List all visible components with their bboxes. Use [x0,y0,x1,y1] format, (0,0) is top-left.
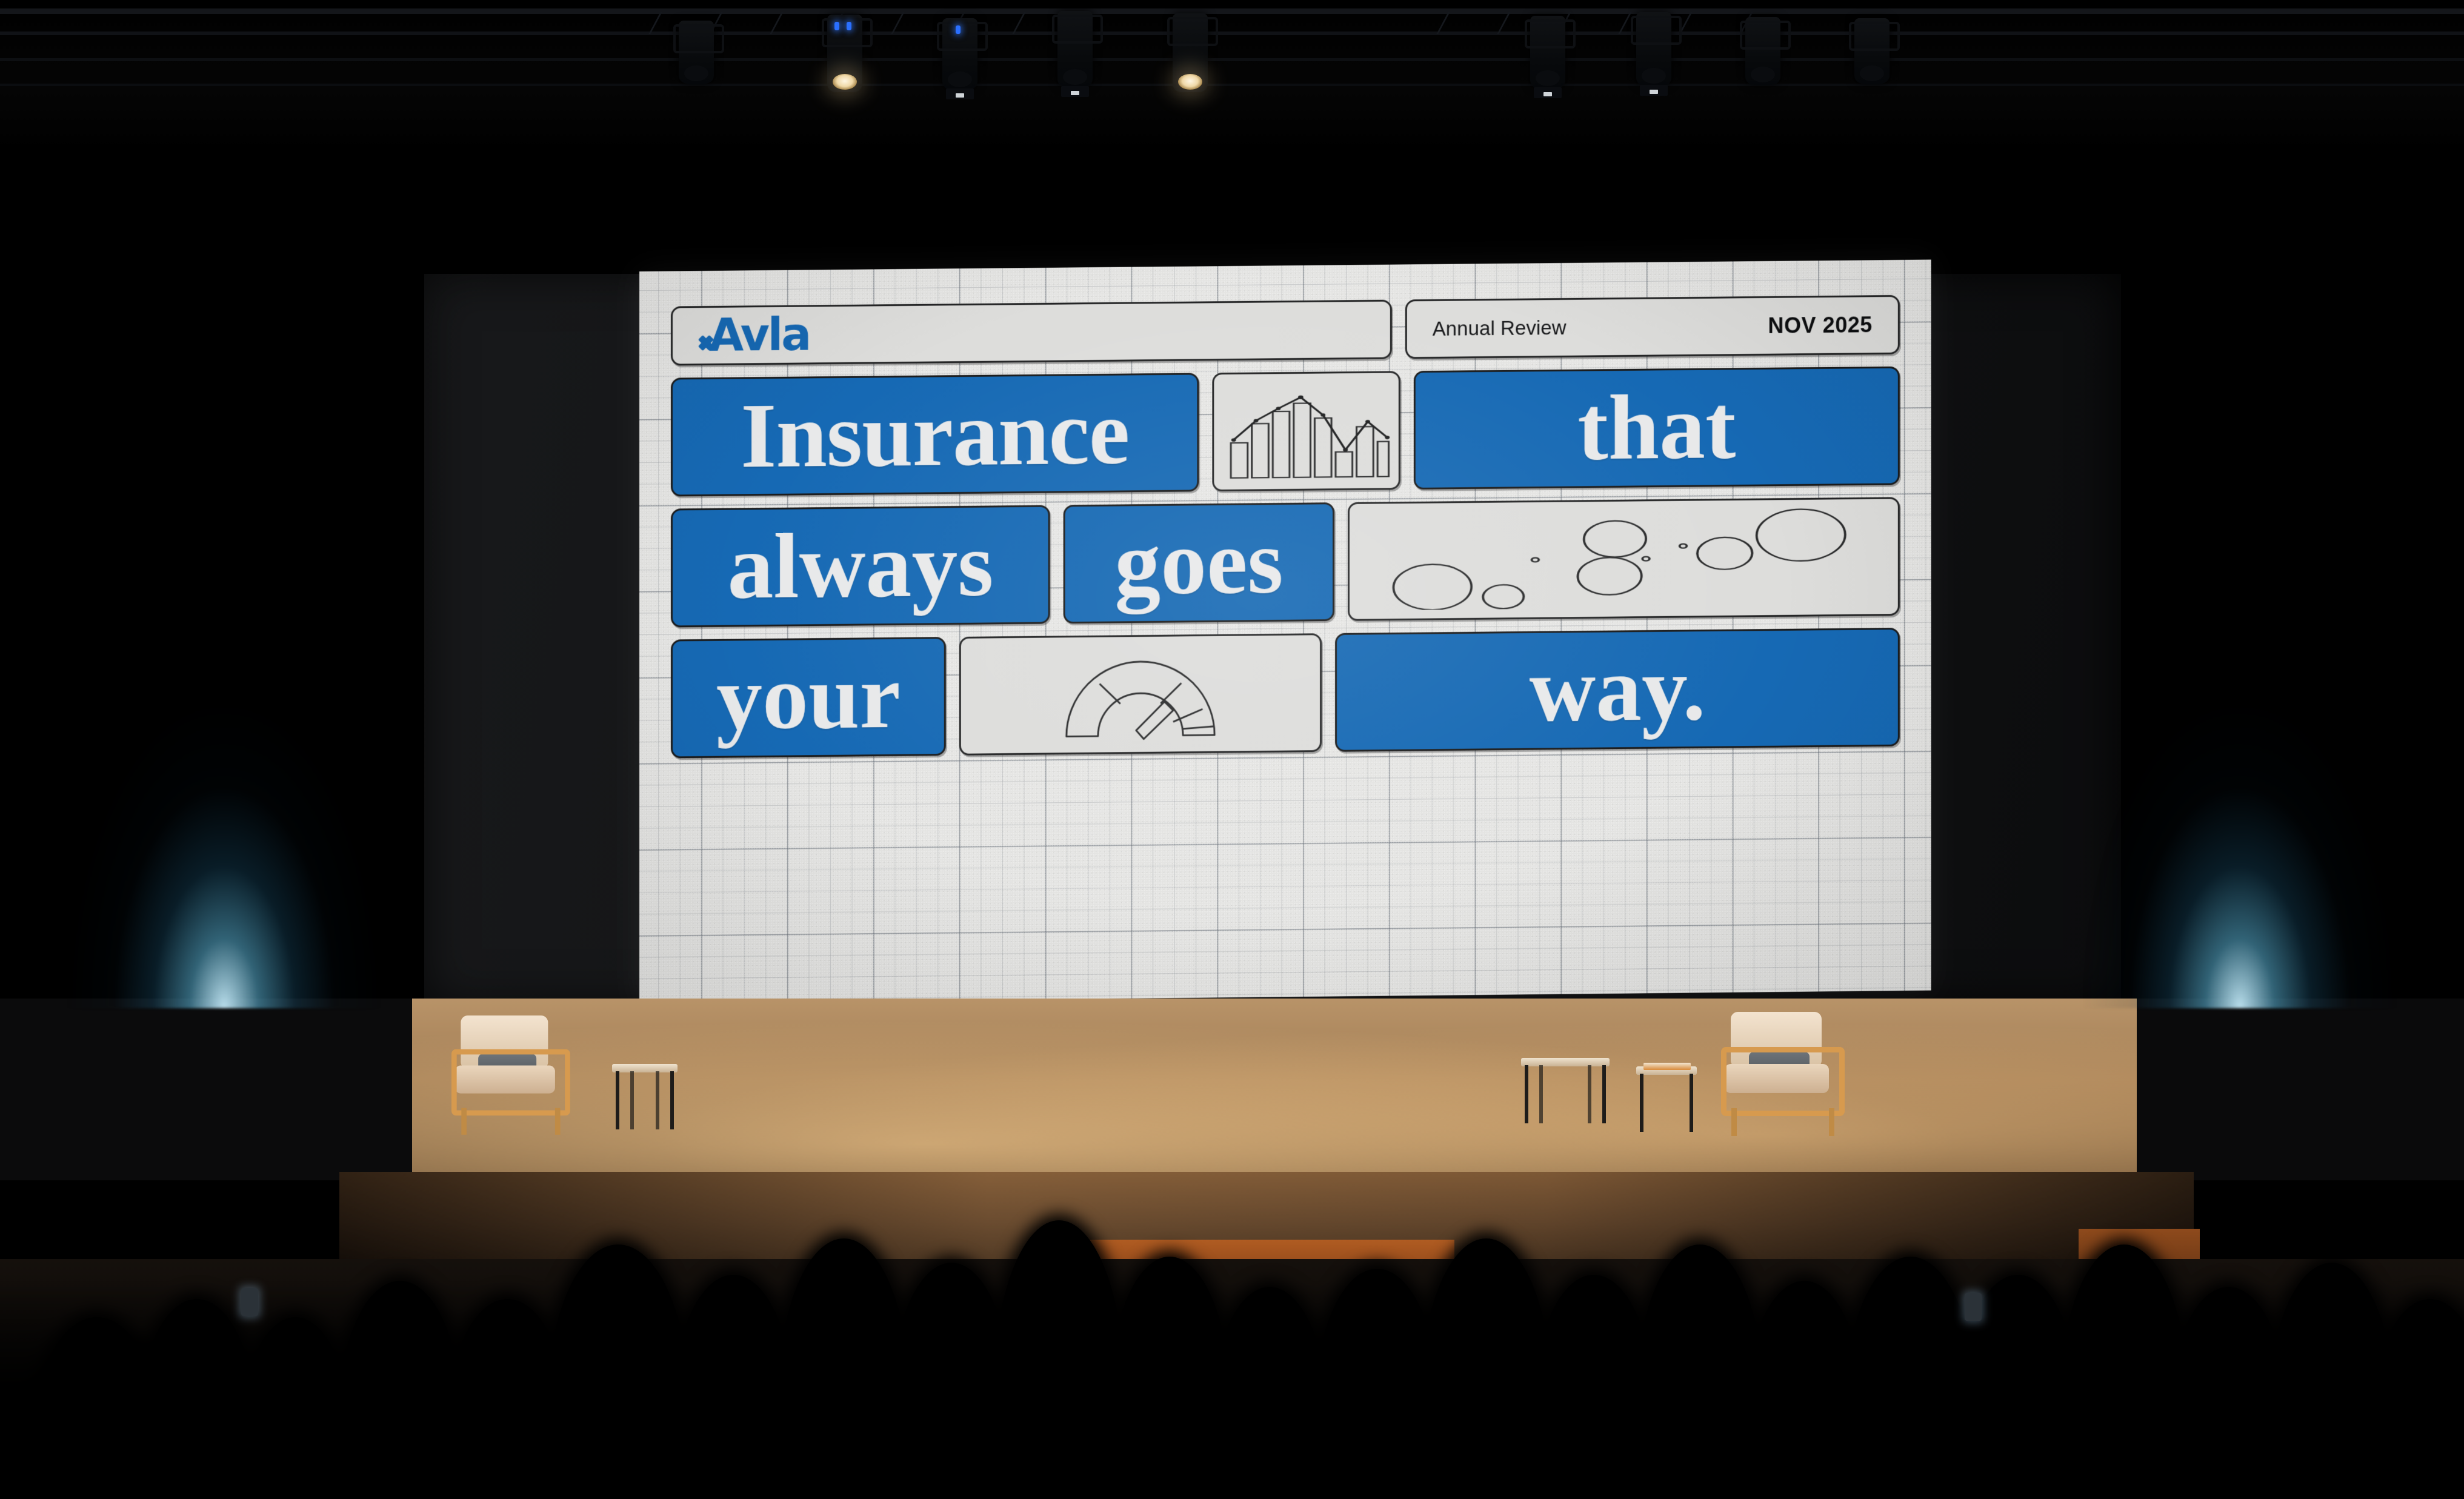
word-tile-way: way. [1335,628,1900,752]
auditorium-scene: Avla Annual Review NOV 2025 Insurance [0,0,2464,1499]
word-tile-that: that [1414,367,1900,490]
stage-lamp-icon [1173,13,1208,92]
stage-lamp-icon [1636,12,1671,86]
headline-row-2: always goes [671,497,1900,627]
stage-area [0,999,2464,1499]
bubble-scatter-chart [1348,497,1900,620]
slide-header-row: Avla Annual Review NOV 2025 [671,295,1900,366]
avla-logo: Avla [697,312,810,358]
lighting-truss [0,0,2464,97]
meta-date: NOV 2025 [1768,312,1873,339]
stage-lamp-icon [1854,18,1890,84]
uplight-right [2082,536,2397,1008]
stage-lamp-icon [827,15,862,92]
meta-label: Annual Review [1433,316,1567,341]
wall-left [0,999,412,1180]
word-text: Insurance [741,391,1129,479]
uplight-left [67,536,382,1008]
stage-lamp-icon [1745,17,1780,85]
word-tile-always: always [671,505,1050,628]
word-tile-your: your [671,637,946,758]
star-accent-icon [697,334,715,352]
brand-logo-card: Avla [671,300,1392,366]
house-floor [0,1259,2464,1499]
stage-backwall [400,999,2145,1180]
presentation-slide: Avla Annual Review NOV 2025 Insurance [639,259,1931,1003]
word-text: always [727,523,993,610]
stage-lamp-icon [1057,11,1093,87]
stage-lamp-icon [1530,16,1565,88]
stage-lamp-icon [942,18,977,90]
book-prop [1643,1063,1691,1070]
word-text: way. [1530,646,1706,733]
bar-line-combo-chart [1212,371,1400,491]
meta-card: Annual Review NOV 2025 [1405,295,1900,359]
word-text: goes [1114,520,1283,606]
word-tile-goes: goes [1064,502,1334,623]
word-tile-insurance: Insurance [671,373,1199,496]
gauge-meter [959,633,1322,756]
stage-lamp-icon [679,21,714,84]
logo-wordmark: Avla [697,312,810,358]
headline-row-1: Insurance [671,367,1900,497]
logo-text: Avla [709,308,810,362]
word-text: that [1577,385,1736,471]
word-text: your [716,654,901,741]
headline-row-3: your way. [671,628,1900,758]
wall-right [2137,999,2464,1180]
